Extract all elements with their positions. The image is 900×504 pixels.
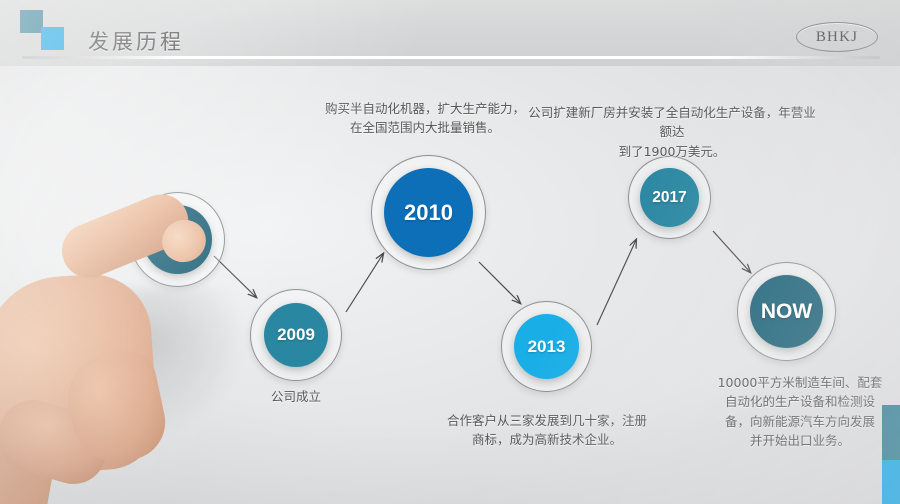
header-square-blue-icon: [41, 27, 64, 50]
caption-now-line3: 备，向新能源汽车方向发展: [707, 412, 893, 431]
arrow-2013-to-2017: [597, 240, 636, 325]
page-title: 发展历程: [88, 26, 184, 56]
node-disc: 2017: [640, 168, 699, 227]
caption-2013: 合作客户从三家发展到几十家，注册 商标，成为高新技术企业。: [435, 411, 659, 450]
caption-2009-line1: 公司成立: [231, 387, 361, 406]
corner-accent-bottom: [882, 460, 900, 504]
header-square-dark-icon: [20, 10, 43, 33]
corner-accent-top: [882, 405, 900, 460]
pointing-hand-image: [0, 236, 196, 504]
node-disc: 2013: [514, 314, 579, 379]
caption-2013-line2: 商标，成为高新技术企业。: [435, 430, 659, 449]
caption-2017-line2: 到了1900万美元。: [524, 142, 820, 161]
caption-now: 10000平方米制造车间、配套 自动化的生产设备和检测设 备，向新能源汽车方向发…: [707, 373, 893, 451]
caption-2010: 购买半自动化机器，扩大生产能力， 在全国范围内大批量销售。: [300, 99, 550, 138]
timeline-node-2017[interactable]: 2017: [628, 156, 711, 239]
timeline-node-now[interactable]: NOW: [737, 262, 836, 361]
company-logo: BHKJ: [796, 22, 878, 52]
node-disc: 2010: [384, 168, 473, 257]
logo-text: BHKJ: [796, 22, 878, 52]
caption-2017-line1: 公司扩建新厂房并安装了全自动化生产设备，年营业额达: [524, 103, 820, 142]
timeline-node-2013[interactable]: 2013: [501, 301, 592, 392]
caption-2009: 公司成立: [231, 387, 361, 406]
caption-2010-line2: 在全国范围内大批量销售。: [300, 118, 550, 137]
caption-now-line4: 并开始出口业务。: [707, 431, 893, 450]
caption-now-line1: 10000平方米制造车间、配套: [707, 373, 893, 392]
timeline-node-2010[interactable]: 2010: [371, 155, 486, 270]
corner-accent-bar: [882, 405, 900, 504]
header-divider: [22, 56, 880, 59]
slide-canvas: 发展历程 BHKJ ON 2009 2010: [0, 0, 900, 504]
caption-2013-line1: 合作客户从三家发展到几十家，注册: [435, 411, 659, 430]
timeline-node-2009[interactable]: 2009: [250, 289, 342, 381]
caption-2010-line1: 购买半自动化机器，扩大生产能力，: [300, 99, 550, 118]
node-disc: NOW: [750, 275, 823, 348]
caption-2017: 公司扩建新厂房并安装了全自动化生产设备，年营业额达 到了1900万美元。: [524, 103, 820, 161]
caption-now-line2: 自动化的生产设备和检测设: [707, 392, 893, 411]
node-disc: 2009: [264, 303, 328, 367]
